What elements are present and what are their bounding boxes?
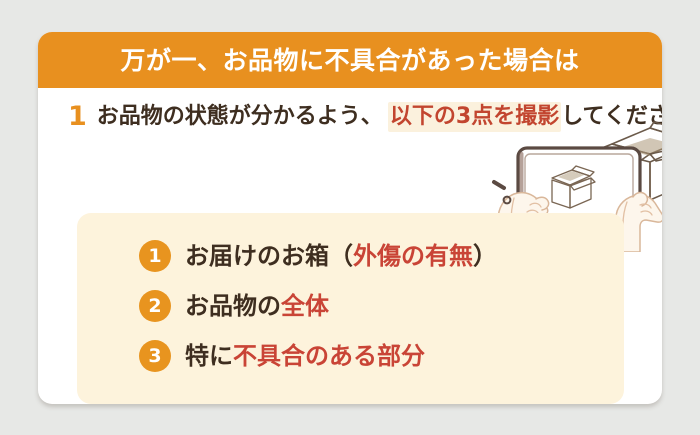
list-item-paren-close: ） — [473, 242, 497, 270]
list-item-text: 特に不具合のある部分 — [185, 344, 425, 368]
list-item-text: お品物の全体 — [185, 294, 329, 318]
photo-checklist-items: 1 お届けのお箱（外傷の有無） 2 お品物の全体 3 特に不具合のある部分 — [139, 231, 497, 381]
list-item-main: お品物の — [185, 292, 281, 320]
list-item-badge: 1 — [139, 240, 171, 272]
open-cardboard-box — [602, 122, 662, 200]
step-one-number: 1 — [68, 102, 87, 132]
step-one-block: 1 お品物の状態が分かるよう、 以下の3点を撮影してください。 — [68, 102, 538, 132]
step-one-line: 1 お品物の状態が分かるよう、 以下の3点を撮影してください。 — [68, 102, 538, 132]
list-item-paren-open: （ — [329, 242, 353, 270]
list-item-main: 特に — [185, 342, 233, 370]
step-one-line2-rest: してください。 — [561, 104, 662, 129]
list-item-badge: 2 — [139, 290, 171, 322]
list-item-accent: 不具合のある部分 — [233, 342, 425, 370]
list-item-accent: 外傷の有無 — [353, 242, 473, 270]
photo-checklist-panel: 1 お届けのお箱（外傷の有無） 2 お品物の全体 3 特に不具合のある部分 — [77, 213, 624, 404]
list-item-accent: 全体 — [281, 292, 329, 320]
step-one-text-line1: お品物の状態が分かるよう、 — [97, 104, 383, 129]
page-title: 万が一、お品物に不具合があった場合は — [120, 48, 579, 73]
list-item: 3 特に不具合のある部分 — [139, 331, 497, 381]
step-one-text-line2: 以下の3点を撮影してください。 — [388, 104, 662, 129]
list-item: 2 お品物の全体 — [139, 281, 497, 331]
screenshot-root: 万が一、お品物に不具合があった場合は 1 お品物の状態が分かるよう、 以下の3点… — [0, 0, 700, 435]
list-item-text: お届けのお箱（外傷の有無） — [185, 244, 497, 268]
box-on-screen — [552, 166, 595, 208]
card-header: 万が一、お品物に不具合があった場合は — [38, 32, 662, 88]
list-item-badge: 3 — [139, 340, 171, 372]
motion-marks — [494, 182, 510, 203]
list-item-main: お届けのお箱 — [185, 242, 329, 270]
instruction-card: 万が一、お品物に不具合があった場合は 1 お品物の状態が分かるよう、 以下の3点… — [38, 32, 662, 404]
step-one-body: お品物の状態が分かるよう、 以下の3点を撮影してください。 — [97, 102, 662, 132]
list-item: 1 お届けのお箱（外傷の有無） — [139, 231, 497, 281]
step-one-highlight: 以下の3点を撮影 — [388, 102, 561, 132]
